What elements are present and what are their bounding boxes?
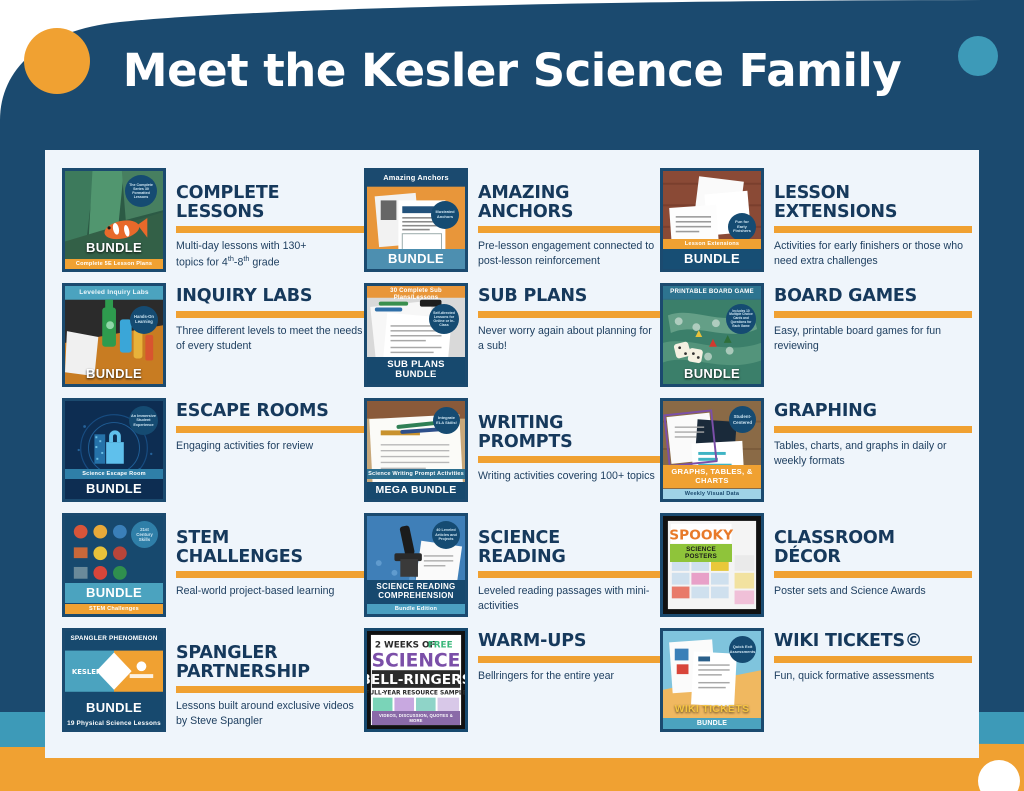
- thumbnail-badge: Self-directed Lessons for Online or In-C…: [429, 304, 459, 334]
- accent-rule: [774, 426, 972, 433]
- product-heading-sub-plans: SUB PLANS: [478, 287, 660, 306]
- svg-text:FULL-YEAR RESOURCE SAMPLE: FULL-YEAR RESOURCE SAMPLE: [367, 691, 465, 697]
- thumbnail-badge: Fun for Early Finishers: [728, 213, 756, 241]
- product-item-spangler-partnership[interactable]: KESLER SPANGLER PHENOMENON 19 Physical S…: [62, 628, 364, 743]
- heading-line: LESSON: [774, 184, 972, 203]
- product-item-graphing[interactable]: Student-Centered Weekly Visual Data GRAP…: [660, 398, 972, 513]
- accent-rule: [774, 571, 972, 578]
- accent-rule: [774, 226, 972, 233]
- page-title: Meet the Kesler Science Family: [0, 44, 1024, 97]
- thumbnail-sub-label: Complete 5E Lesson Plans: [65, 259, 163, 269]
- thumbnail-sub-label: STEM Challenges: [65, 604, 163, 614]
- thumbnail-bundle-label: BUNDLE: [663, 364, 761, 384]
- thumbnail-badge: Illustrated Anchors: [431, 201, 459, 229]
- accent-rule: [176, 311, 364, 318]
- thumbnail-badge: An Immersive Student Experience: [129, 406, 158, 435]
- thumbnail-badge: Integrate ELA Skills!: [433, 407, 460, 434]
- product-item-writing-prompts[interactable]: Integrate ELA Skills! Science Writing Pr…: [364, 398, 660, 513]
- thumbnail-badge: Includes 10 Multiple Choice Cards and Qu…: [726, 304, 756, 334]
- accent-rule: [774, 311, 972, 318]
- product-item-complete-lessons[interactable]: The Complete Series 30 Formatted Lessons…: [62, 168, 364, 283]
- product-item-stem-challenges[interactable]: 21st Century Skills STEM Challenges BUND…: [62, 513, 364, 628]
- heading-line: LESSONS: [176, 203, 364, 222]
- product-thumbnail-sub-plans: 30 Complete Sub Plans/Lessons Self-direc…: [364, 283, 468, 387]
- heading-line: READING: [478, 548, 660, 567]
- thumbnail-sub-label: Weekly Visual Data: [663, 489, 761, 499]
- product-item-inquiry-labs[interactable]: Leveled Inquiry Labs Hands-On Learning B…: [62, 283, 364, 398]
- heading-line: COMPLETE: [176, 184, 364, 203]
- thumbnail-sub-label: Science Writing Prompt Activities: [367, 469, 465, 479]
- product-description-complete-lessons: Multi-day lessons with 130+topics for 4t…: [176, 239, 364, 271]
- product-heading-graphing: GRAPHING: [774, 402, 972, 421]
- product-description-science-reading: Leveled reading passages with mini-activ…: [478, 584, 660, 614]
- product-description-warm-ups: Bellringers for the entire year: [478, 669, 660, 684]
- heading-line: SPANGLER: [176, 644, 364, 663]
- thumbnail-top-label: PRINTABLE BOARD GAME: [663, 286, 761, 299]
- product-heading-spangler-partnership: SPANGLER PARTNERSHIP: [176, 644, 364, 681]
- product-heading-lesson-extensions: LESSON EXTENSIONS: [774, 184, 972, 221]
- product-thumbnail-classroom-decor: SPOOKY SPOOKY SCIENCE POSTERS: [660, 513, 764, 617]
- product-thumbnail-inquiry-labs: Leveled Inquiry Labs Hands-On Learning B…: [62, 283, 166, 387]
- thumbnail-sub-label: Lesson Extensions: [663, 239, 761, 249]
- thumbnail-bundle-label: SCIENCE READING COMPREHENSION: [367, 580, 465, 604]
- thumbnail-sub-label: BUNDLE: [663, 718, 761, 729]
- thumbnail-top-label: 30 Complete Sub Plans/Lessons: [367, 286, 465, 303]
- accent-rule: [176, 426, 364, 433]
- thumbnail-sub-label: Science Escape Room: [65, 469, 163, 479]
- thumbnail-bundle-label: BUNDLE: [65, 583, 163, 603]
- product-description-wiki-tickets: Fun, quick formative assessments: [774, 669, 972, 684]
- product-item-warm-ups[interactable]: 2 WEEKS OF FREE SCIENCE BELL-RINGERS FUL…: [364, 628, 660, 743]
- svg-text:2 WEEKS OF: 2 WEEKS OF: [375, 641, 436, 651]
- heading-line: SCIENCE: [478, 529, 660, 548]
- product-heading-complete-lessons: COMPLETE LESSONS: [176, 184, 364, 221]
- thumbnail-badge: Hands-On Learning: [130, 306, 158, 334]
- product-description-spangler-partnership: Lessons built around exclusive videos by…: [176, 699, 364, 729]
- product-item-wiki-tickets[interactable]: Quick Exit Assessments BUNDLE WIKI TICKE…: [660, 628, 972, 743]
- thumbnail-bundle-label: BUNDLE: [65, 698, 163, 718]
- thumbnail-bundle-label: MEGA BUNDLE: [367, 482, 465, 499]
- product-description-amazing-anchors: Pre-lesson engagement connected to post-…: [478, 239, 660, 269]
- product-heading-warm-ups: WARM-UPS: [478, 632, 660, 651]
- poster-canvas: Meet the Kesler Science Family The Com: [0, 0, 1024, 791]
- product-thumbnail-amazing-anchors: Amazing Anchors Illustrated Anchors BUND…: [364, 168, 468, 272]
- product-thumbnail-stem-challenges: 21st Century Skills STEM Challenges BUND…: [62, 513, 166, 617]
- accent-rule: [176, 226, 364, 233]
- product-grid: The Complete Series 30 Formatted Lessons…: [62, 168, 972, 750]
- product-item-lesson-extensions[interactable]: Fun for Early Finishers Lesson Extension…: [660, 168, 972, 283]
- svg-text:SPOOKY: SPOOKY: [669, 528, 734, 544]
- product-heading-wiki-tickets: WIKI TICKETS©: [774, 632, 972, 651]
- product-thumbnail-board-games: PRINTABLE BOARD GAME Includes 10 Multipl…: [660, 283, 764, 387]
- thumbnail-top-label: Amazing Anchors: [367, 171, 465, 185]
- thumbnail-badge: The Complete Series 30 Formatted Lessons: [125, 175, 157, 207]
- svg-text:FREE: FREE: [428, 641, 453, 651]
- thumbnail-bundle-label: BUNDLE: [65, 364, 163, 384]
- thumbnail-bundle-label: BUNDLE: [663, 249, 761, 269]
- heading-line: ANCHORS: [478, 203, 660, 222]
- heading-line: EXTENSIONS: [774, 203, 972, 222]
- product-heading-stem-challenges: STEM CHALLENGES: [176, 529, 364, 566]
- accent-rule: [478, 311, 660, 318]
- thumbnail-sub-label: 19 Physical Science Lessons: [65, 718, 163, 729]
- product-description-classroom-decor: Poster sets and Science Awards: [774, 584, 972, 599]
- product-item-amazing-anchors[interactable]: Amazing Anchors Illustrated Anchors BUND…: [364, 168, 660, 283]
- product-thumbnail-science-reading: 40 Leveled Articles and Projects Bundle …: [364, 513, 468, 617]
- product-description-inquiry-labs: Three different levels to meet the needs…: [176, 324, 364, 354]
- thumbnail-badge: 40 Leveled Articles and Projects: [432, 521, 460, 549]
- product-description-lesson-extensions: Activities for early finishers or those …: [774, 239, 972, 269]
- product-description-escape-rooms: Engaging activities for review: [176, 439, 364, 454]
- product-description-board-games: Easy, printable board games for fun revi…: [774, 324, 972, 354]
- heading-line: DÉCOR: [774, 548, 972, 567]
- product-thumbnail-warm-ups: 2 WEEKS OF FREE SCIENCE BELL-RINGERS FUL…: [364, 628, 468, 732]
- product-thumbnail-complete-lessons: The Complete Series 30 Formatted Lessons…: [62, 168, 166, 272]
- thumbnail-sub-label: SCIENCE POSTERS: [670, 544, 732, 562]
- spooky-posters-art: SPOOKY: [663, 516, 761, 614]
- product-thumbnail-graphing: Student-Centered Weekly Visual Data GRAP…: [660, 398, 764, 502]
- product-heading-amazing-anchors: AMAZING ANCHORS: [478, 184, 660, 221]
- product-item-escape-rooms[interactable]: An Immersive Student Experience Science …: [62, 398, 364, 513]
- thumbnail-top-label: SPANGLER PHENOMENON: [65, 631, 163, 646]
- product-heading-writing-prompts: WRITING PROMPTS: [478, 414, 660, 451]
- thumbnail-top-label: Leveled Inquiry Labs: [65, 286, 163, 299]
- thumbnail-badge: 21st Century Skills: [131, 521, 158, 548]
- product-thumbnail-spangler-partnership: KESLER SPANGLER PHENOMENON 19 Physical S…: [62, 628, 166, 732]
- product-description-stem-challenges: Real-world project-based learning: [176, 584, 364, 599]
- product-description-graphing: Tables, charts, and graphs in daily or w…: [774, 439, 972, 469]
- accent-rule: [774, 656, 972, 663]
- heading-line: CHALLENGES: [176, 548, 364, 567]
- accent-rule: [478, 456, 660, 463]
- product-description-sub-plans: Never worry again about planning for a s…: [478, 324, 660, 354]
- thumbnail-bundle-label: GRAPHS, TABLES, & CHARTS: [663, 465, 761, 488]
- product-description-writing-prompts: Writing activities covering 100+ topics: [478, 469, 660, 484]
- svg-text:BELL-RINGERS: BELL-RINGERS: [367, 672, 465, 688]
- product-item-sub-plans[interactable]: 30 Complete Sub Plans/Lessons Self-direc…: [364, 283, 660, 398]
- accent-rule: [478, 226, 660, 233]
- heading-line: PARTNERSHIP: [176, 663, 364, 682]
- accent-rule: [478, 656, 660, 663]
- product-heading-science-reading: SCIENCE READING: [478, 529, 660, 566]
- thumbnail-sub-label: Bundle Edition: [367, 604, 465, 614]
- thumbnail-sub-label: VIDEOS, DISCUSSION, QUOTES & MORE: [372, 711, 460, 725]
- heading-line: STEM: [176, 529, 364, 548]
- product-thumbnail-wiki-tickets: Quick Exit Assessments BUNDLE WIKI TICKE…: [660, 628, 764, 732]
- thumbnail-bundle-label: SUB PLANS BUNDLE: [367, 357, 465, 384]
- svg-text:SCIENCE: SCIENCE: [372, 650, 461, 671]
- product-thumbnail-writing-prompts: Integrate ELA Skills! Science Writing Pr…: [364, 398, 468, 502]
- thumbnail-bundle-label: BUNDLE: [65, 479, 163, 499]
- thumbnail-badge: Quick Exit Assessments: [729, 636, 756, 663]
- heading-line: CLASSROOM: [774, 529, 972, 548]
- heading-line: PROMPTS: [478, 433, 660, 452]
- product-heading-escape-rooms: ESCAPE ROOMS: [176, 402, 364, 421]
- product-heading-board-games: BOARD GAMES: [774, 287, 972, 306]
- heading-line: WRITING: [478, 414, 660, 433]
- product-item-classroom-decor[interactable]: SPOOKY SPOOKY SCIENCE POSTERS: [660, 513, 972, 628]
- product-thumbnail-lesson-extensions: Fun for Early Finishers Lesson Extension…: [660, 168, 764, 272]
- svg-text:KESLER: KESLER: [72, 668, 102, 676]
- product-heading-classroom-decor: CLASSROOM DÉCOR: [774, 529, 972, 566]
- product-heading-inquiry-labs: INQUIRY LABS: [176, 287, 364, 306]
- thumbnail-bundle-label: BUNDLE: [65, 238, 163, 258]
- thumbnail-bundle-label: BUNDLE: [367, 249, 465, 269]
- heading-line: AMAZING: [478, 184, 660, 203]
- thumbnail-bundle-label: WIKI TICKETS: [663, 701, 761, 718]
- accent-rule: [176, 571, 364, 578]
- product-item-board-games[interactable]: PRINTABLE BOARD GAME Includes 10 Multipl…: [660, 283, 972, 398]
- product-thumbnail-escape-rooms: An Immersive Student Experience Science …: [62, 398, 166, 502]
- accent-rule: [478, 571, 660, 578]
- product-item-science-reading[interactable]: 40 Leveled Articles and Projects Bundle …: [364, 513, 660, 628]
- thumbnail-badge: Student-Centered: [729, 406, 756, 433]
- accent-rule: [176, 686, 364, 693]
